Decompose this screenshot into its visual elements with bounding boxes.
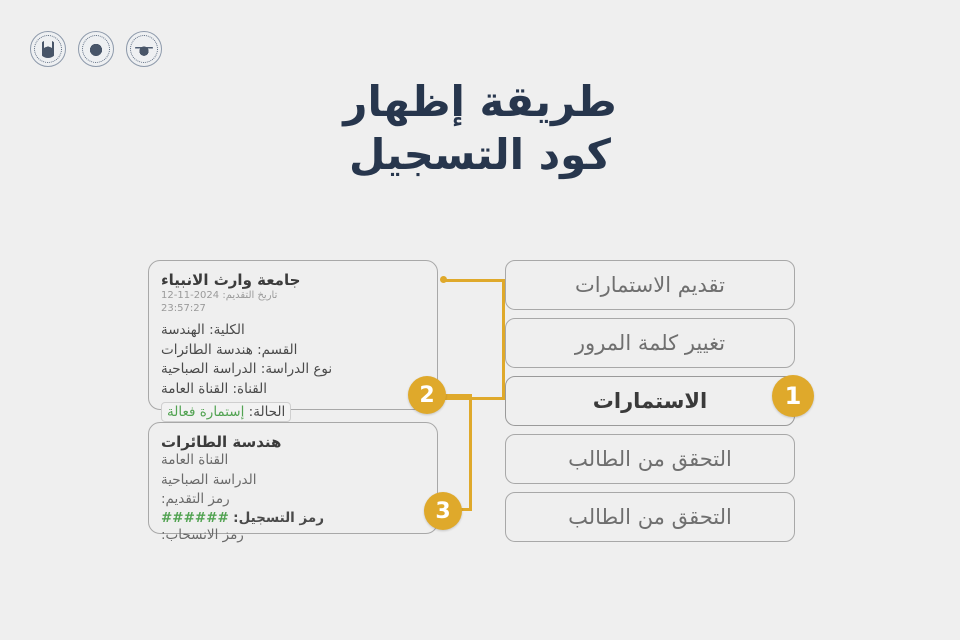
status-badge: الحالة: إستمارة فعالة: [161, 402, 291, 422]
status-label: الحالة:: [249, 404, 286, 420]
menu-item-submit-forms[interactable]: تقديم الاستمارات: [505, 260, 795, 310]
ministry-seal-2-icon: [78, 31, 114, 67]
step-badge-3: 3: [424, 492, 462, 530]
menu-item-verify-student-2[interactable]: التحقق من الطالب: [505, 492, 795, 542]
card-university-name: جامعة وارث الانبياء: [161, 271, 425, 289]
codes-study-type: الدراسة الصباحية: [161, 471, 425, 491]
page-title-line-1: طريقة إظهار: [0, 76, 960, 129]
menu-item-verify-student-1[interactable]: التحقق من الطالب: [505, 434, 795, 484]
connector-v-badge-bracket: [469, 394, 472, 510]
status-value: إستمارة فعالة: [167, 404, 244, 420]
university-seal-1-icon: [126, 31, 162, 67]
codes-channel: القناة العامة: [161, 451, 425, 471]
menu-item-forms[interactable]: الاستمارات: [505, 376, 795, 426]
slide-canvas: طريقة إظهار كود التسجيل جامعة وارث الانب…: [0, 0, 960, 640]
card-submit-time: 23:57:27: [161, 302, 425, 315]
page-title: طريقة إظهار كود التسجيل: [0, 76, 960, 181]
connector-h-card1: [443, 279, 505, 282]
register-code-value: ######: [161, 510, 229, 526]
card-channel: القناة: القناة العامة: [161, 380, 425, 400]
connector-dot-card1: [440, 276, 447, 283]
step-badge-1: 1: [772, 375, 814, 417]
card-college: الكلية: الهندسة: [161, 321, 425, 341]
logo-strip: [30, 31, 162, 67]
codes-withdraw-code: رمز الانسحاب:: [161, 526, 425, 546]
register-code-label: رمز التسجيل:: [233, 510, 324, 526]
codes-card: هندسة الطائرات القناة العامة الدراسة الص…: [148, 422, 438, 534]
application-summary-card: جامعة وارث الانبياء تاريخ التقديم: 2024-…: [148, 260, 438, 410]
card-study-type: نوع الدراسة: الدراسة الصباحية: [161, 360, 425, 380]
shrine-seal-3-icon: [30, 31, 66, 67]
step-badge-2: 2: [408, 376, 446, 414]
card-department: القسم: هندسة الطائرات: [161, 341, 425, 361]
codes-register-code: رمز التسجيل: ######: [161, 510, 425, 526]
card-submit-date: تاريخ التقديم: 2024-11-12: [161, 289, 425, 302]
codes-department: هندسة الطائرات: [161, 433, 425, 451]
page-title-line-2: كود التسجيل: [0, 129, 960, 182]
main-menu: تقديم الاستمارات تغيير كلمة المرور الاست…: [505, 260, 795, 550]
menu-item-change-password[interactable]: تغيير كلمة المرور: [505, 318, 795, 368]
codes-apply-code: رمز التقديم:: [161, 490, 425, 510]
